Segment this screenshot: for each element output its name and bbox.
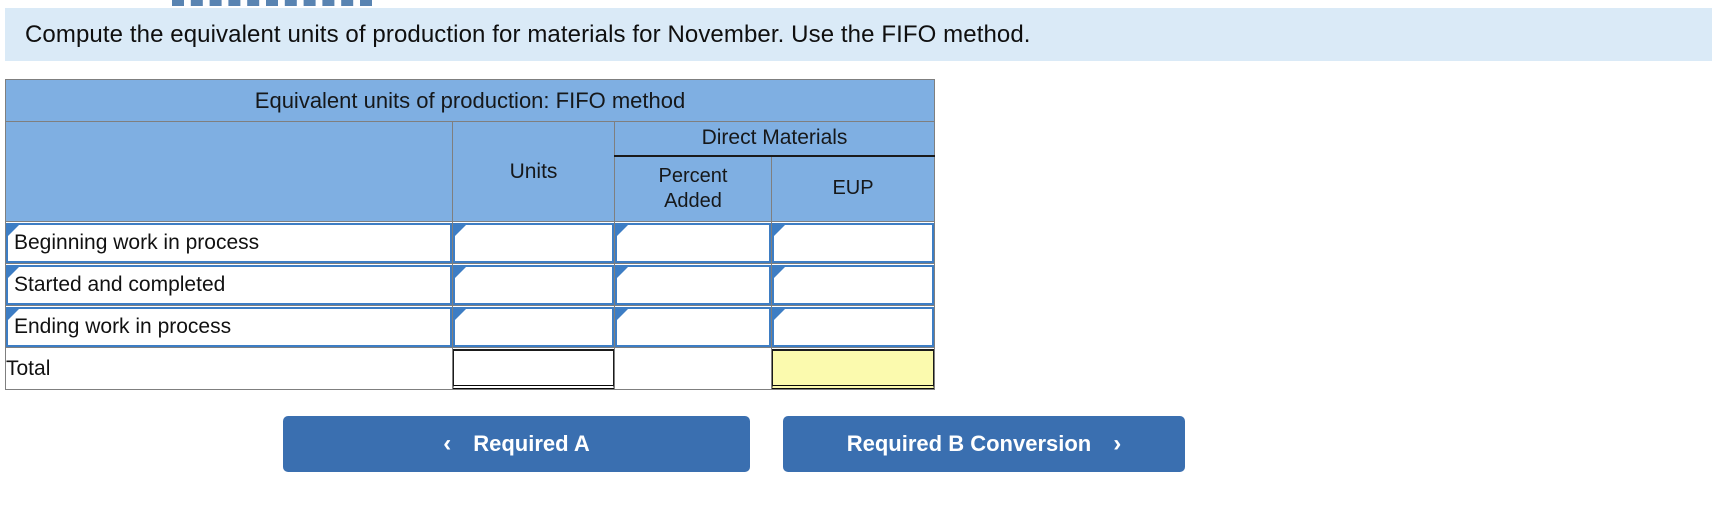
percent-added-line2: Added [664,190,722,212]
row-label-input-beginning-wip[interactable]: Beginning work in process [6,223,452,263]
table-row: Ending work in process [6,306,935,348]
blank-corner-header [6,122,453,222]
units-input-started-completed[interactable] [453,265,614,305]
required-a-button-label: Required A [473,431,590,457]
row-label-cell-ending-wip[interactable]: Ending work in process [6,306,453,348]
percent-cell-ending-wip[interactable] [615,306,772,348]
instruction-banner: Compute the equivalent units of producti… [5,8,1712,61]
percent-input-ending-wip[interactable] [615,307,771,347]
table-title-row: Equivalent units of production: FIFO met… [6,80,935,122]
column-header-percent-added: Percent Added [615,156,772,222]
table-row: Beginning work in process [6,222,935,264]
worksheet-page: Compute the equivalent units of producti… [0,0,1712,530]
row-label-text: Ending work in process [8,315,231,339]
total-units-value [453,349,614,389]
total-label: Total [6,348,453,390]
chevron-right-icon: › [1113,432,1121,456]
eup-cell-ending-wip[interactable] [772,306,935,348]
units-cell-started-completed[interactable] [453,264,615,306]
required-a-button[interactable]: ‹ Required A [283,416,750,472]
row-label-cell-started-completed[interactable]: Started and completed [6,264,453,306]
table-group-header-row: Units Direct Materials [6,122,935,156]
total-eup-cell[interactable] [772,348,935,390]
row-label-text: Beginning work in process [8,231,259,255]
percent-input-beginning-wip[interactable] [615,223,771,263]
table-row: Started and completed [6,264,935,306]
navigation-buttons: ‹ Required A Required B Conversion › [283,416,1188,472]
column-header-eup: EUP [772,156,935,222]
percent-input-started-completed[interactable] [615,265,771,305]
row-label-cell-beginning-wip[interactable]: Beginning work in process [6,222,453,264]
table-total-row: Total [6,348,935,390]
total-eup-value [772,349,934,389]
row-label-input-started-completed[interactable]: Started and completed [6,265,452,305]
eup-input-beginning-wip[interactable] [772,223,934,263]
units-input-beginning-wip[interactable] [453,223,614,263]
units-cell-ending-wip[interactable] [453,306,615,348]
percent-cell-started-completed[interactable] [615,264,772,306]
percent-cell-beginning-wip[interactable] [615,222,772,264]
required-b-conversion-button[interactable]: Required B Conversion › [783,416,1185,472]
required-b-button-label: Required B Conversion [847,431,1091,457]
eup-cell-beginning-wip[interactable] [772,222,935,264]
row-label-input-ending-wip[interactable]: Ending work in process [6,307,452,347]
chevron-left-icon: ‹ [443,432,451,456]
total-percent-value [615,349,771,389]
instruction-text: Compute the equivalent units of producti… [5,21,1031,49]
eup-cell-started-completed[interactable] [772,264,935,306]
column-header-units: Units [453,122,615,222]
percent-added-line1: Percent [659,165,728,187]
eup-input-started-completed[interactable] [772,265,934,305]
eup-input-ending-wip[interactable] [772,307,934,347]
table-title: Equivalent units of production: FIFO met… [6,80,935,122]
row-label-text: Started and completed [8,273,225,297]
column-group-direct-materials: Direct Materials [615,122,935,156]
total-percent-cell [615,348,772,390]
units-input-ending-wip[interactable] [453,307,614,347]
dashed-divider [172,0,372,6]
equivalent-units-table: Equivalent units of production: FIFO met… [5,79,935,390]
units-cell-beginning-wip[interactable] [453,222,615,264]
total-units-cell[interactable] [453,348,615,390]
